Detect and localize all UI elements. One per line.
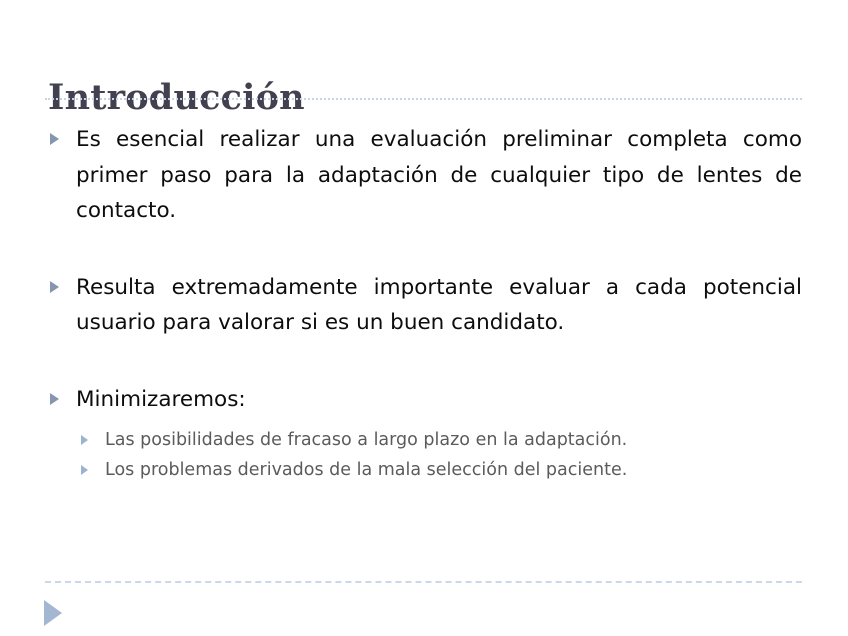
sub-list-item: Las posibilidades de fracaso a largo pla…	[76, 425, 802, 455]
list-item: Minimizaremos:	[46, 382, 802, 418]
slide-body: Es esencial realizar una evaluación prel…	[46, 122, 802, 485]
list-item: Resulta extremadamente importante evalua…	[46, 270, 802, 341]
list-item: Es esencial realizar una evaluación prel…	[46, 122, 802, 229]
footer-divider	[45, 581, 802, 583]
title-divider	[45, 98, 802, 100]
triangle-right-icon	[50, 133, 59, 145]
spacer	[46, 229, 802, 270]
triangle-right-icon	[81, 465, 88, 475]
triangle-right-icon	[50, 393, 59, 405]
bullet-text: Resulta extremadamente importante evalua…	[76, 275, 802, 336]
slide: Introducción Es esencial realizar una ev…	[0, 0, 848, 636]
sub-list: Las posibilidades de fracaso a largo pla…	[46, 425, 802, 485]
triangle-right-icon[interactable]	[44, 600, 62, 626]
spacer	[46, 341, 802, 382]
bullet-text: Minimizaremos:	[76, 387, 246, 412]
sub-bullet-text: Los problemas derivados de la mala selec…	[105, 460, 627, 480]
triangle-right-icon	[50, 281, 59, 293]
sub-bullet-text: Las posibilidades de fracaso a largo pla…	[105, 430, 627, 450]
sub-list-item: Los problemas derivados de la mala selec…	[76, 455, 802, 485]
bullet-text: Es esencial realizar una evaluación prel…	[76, 127, 802, 223]
triangle-right-icon	[81, 435, 88, 445]
